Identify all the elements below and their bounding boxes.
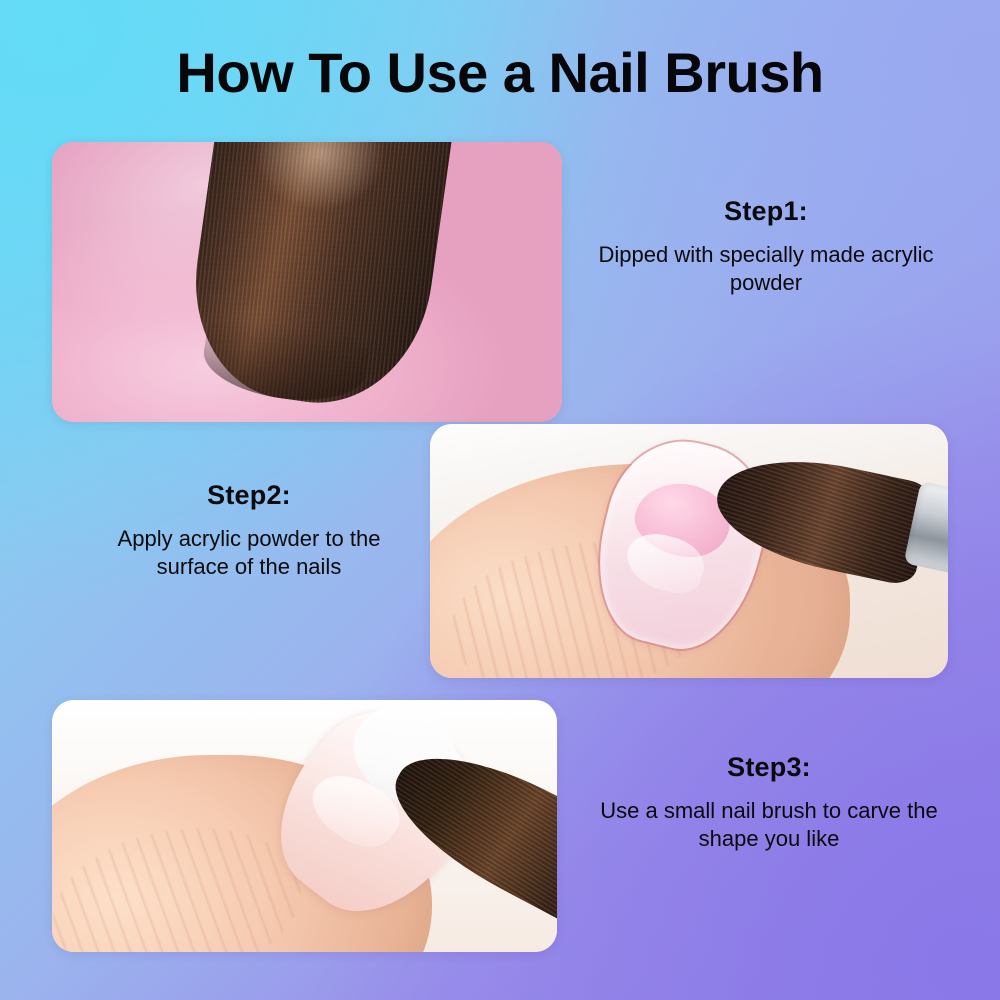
step1-label: Step1: — [596, 196, 936, 227]
step3-image — [52, 700, 557, 952]
nail-brush — [180, 142, 459, 417]
page-title: How To Use a Nail Brush — [0, 42, 1000, 104]
step3-description: Use a small nail brush to carve the shap… — [594, 797, 944, 853]
step1-text-block: Step1: Dipped with specially made acryli… — [596, 196, 936, 297]
brush-hair-texture — [707, 442, 934, 587]
step1-image — [52, 142, 562, 422]
step3-label: Step3: — [594, 752, 944, 783]
step3-text-block: Step3: Use a small nail brush to carve t… — [594, 752, 944, 853]
step2-image — [430, 424, 948, 678]
step2-text-block: Step2: Apply acrylic powder to the surfa… — [84, 480, 414, 581]
step1-description: Dipped with specially made acrylic powde… — [596, 241, 936, 297]
step2-label: Step2: — [84, 480, 414, 511]
step2-description: Apply acrylic powder to the surface of t… — [84, 525, 414, 581]
